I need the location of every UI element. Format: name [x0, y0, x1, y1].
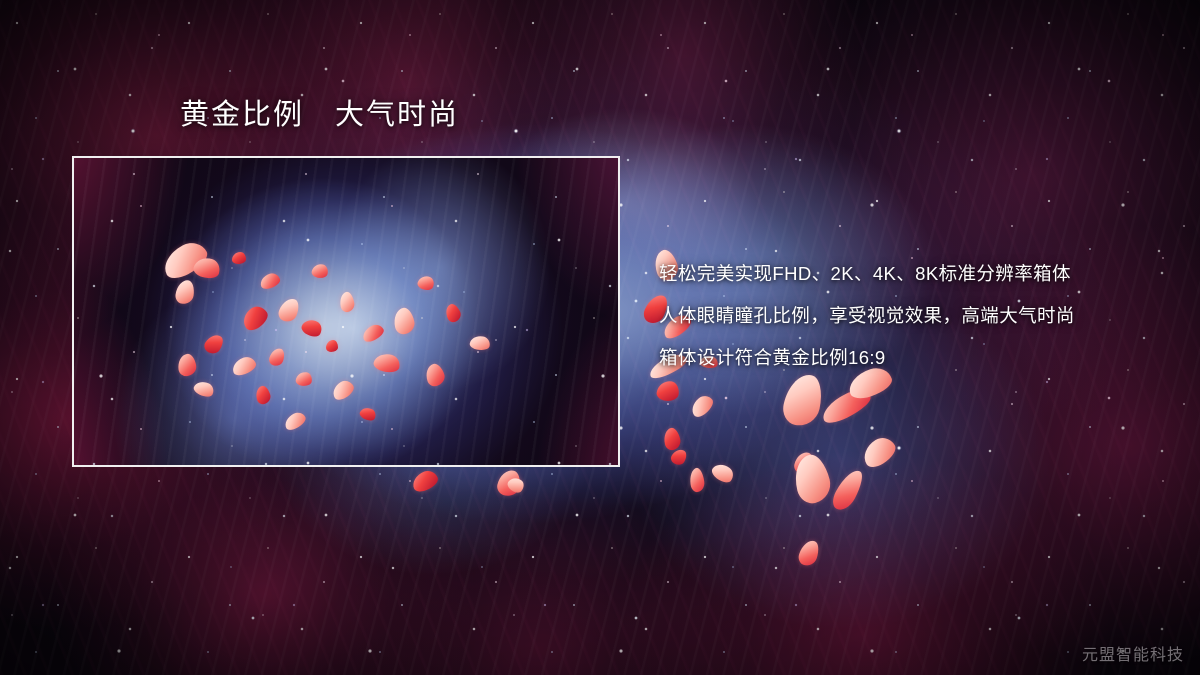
- framed-photo-image: [74, 158, 618, 465]
- flower-petal: [688, 467, 705, 493]
- framed-nebula-art: [74, 158, 618, 465]
- page-title: 黄金比例 大气时尚: [180, 100, 459, 132]
- flower-petal: [656, 380, 681, 403]
- watermark: 元盟智能科技: [1082, 641, 1184, 665]
- flower-petal: [709, 460, 736, 486]
- flower-petal: [793, 450, 816, 476]
- flower-petal: [496, 468, 523, 498]
- description-line: 轻松完美实现FHD、2K、4K、8K标准分辨率箱体: [659, 253, 1159, 295]
- framed-photo: [72, 156, 620, 467]
- feature-description: 轻松完美实现FHD、2K、4K、8K标准分辨率箱体 人体眼睛瞳孔比例，享受视觉效…: [659, 253, 1159, 379]
- slide-canvas: 黄金比例 大气时尚 轻松完美实现FHD、2K、4K、8K标准分辨率箱体 人体眼睛…: [0, 0, 1200, 675]
- flower-petal: [818, 385, 874, 428]
- flower-petal: [662, 427, 682, 452]
- flower-petal: [790, 452, 835, 507]
- description-line: 人体眼睛瞳孔比例，享受视觉效果，高端大气时尚: [659, 295, 1159, 337]
- description-line: 箱体设计符合黄金比例16:9: [659, 337, 1159, 379]
- flower-petal: [669, 447, 689, 468]
- flower-petal: [858, 433, 900, 471]
- flower-petal: [780, 371, 826, 429]
- flower-petal: [410, 468, 441, 494]
- flower-petal: [688, 392, 717, 420]
- flower-petal: [505, 474, 526, 495]
- flower-petal: [796, 538, 821, 568]
- flower-petal: [829, 466, 867, 514]
- framed-nebula-wisp: [74, 158, 618, 465]
